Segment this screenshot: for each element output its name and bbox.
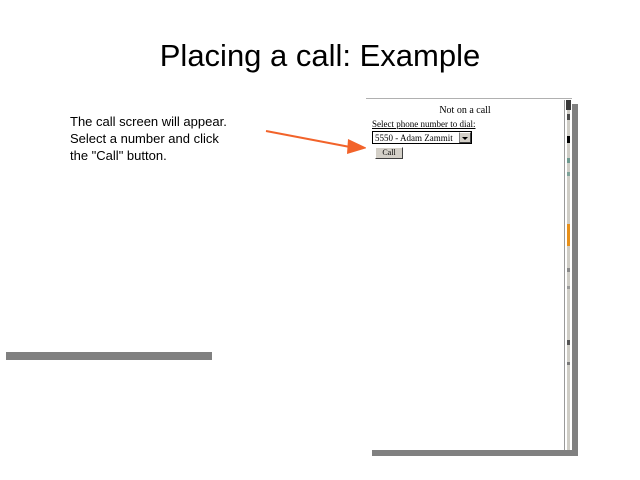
body-text-line-3: the "Call" button. xyxy=(70,147,280,164)
phone-number-dropdown[interactable]: 5550 - Adam Zammit xyxy=(372,131,472,144)
scrollbar-track[interactable] xyxy=(567,100,570,450)
body-text-line-1: The call screen will appear. xyxy=(70,113,280,130)
scrollbar-mark xyxy=(567,136,570,143)
scrollbar-mark xyxy=(567,286,570,289)
app-client-area: Not on a call Select phone number to dia… xyxy=(366,100,564,450)
scrollbar-mark xyxy=(567,158,570,163)
app-window: Not on a call Select phone number to dia… xyxy=(366,98,572,450)
call-status-heading: Not on a call xyxy=(366,105,564,116)
chevron-down-icon[interactable] xyxy=(459,132,471,143)
call-screen-screenshot: Not on a call Select phone number to dia… xyxy=(366,98,572,450)
app-window-bottom-shadow xyxy=(6,352,212,360)
scrollbar-mark xyxy=(567,268,570,272)
call-button[interactable]: Call xyxy=(375,147,403,159)
vertical-scrollbar[interactable] xyxy=(564,100,572,450)
body-text-line-2: Select a number and click xyxy=(70,130,280,147)
scrollbar-mark xyxy=(567,172,570,176)
scrollbar-thumb[interactable] xyxy=(566,100,571,110)
scrollbar-mark xyxy=(567,340,570,345)
phone-number-dropdown-value: 5550 - Adam Zammit xyxy=(375,133,453,143)
slide-body-text: The call screen will appear. Select a nu… xyxy=(70,113,280,164)
dial-number-label: Select phone number to dial: xyxy=(372,119,475,129)
scrollbar-mark xyxy=(567,114,570,120)
scrollbar-mark xyxy=(567,224,570,246)
page-title: Placing a call: Example xyxy=(0,38,640,74)
scrollbar-mark xyxy=(567,362,570,365)
